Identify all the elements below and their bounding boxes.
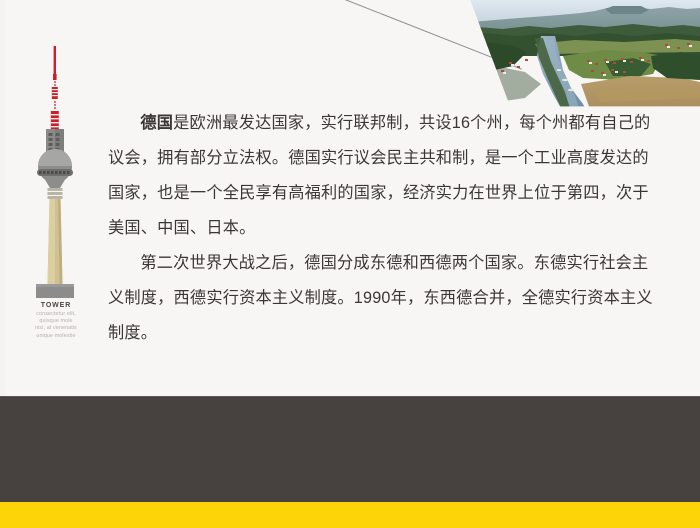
tv-tower-graphic (22, 44, 88, 300)
tower-caption-body: consectetur elit, quisque mole nisi, at … (10, 311, 102, 340)
left-edge-strip (0, 0, 5, 397)
article-paragraph-1: 德国是欧洲最发达国家，实行联邦制，共设16个州，每个州都有自己的议会，拥有部分立… (108, 106, 663, 246)
tower-caption-line-4: unique molestie (10, 333, 102, 340)
tower-caption-line-3: nisi, at venenatis (10, 325, 102, 332)
footer-dark-bar (0, 397, 700, 502)
footer-accent-bar (0, 502, 700, 528)
article-paragraph-2: 第二次世界大战之后，德国分成东德和西德两个国家。东德实行社会主义制度，西德实行资… (108, 246, 663, 351)
article-lead-term: 德国 (140, 114, 173, 132)
tower-caption-line-2: quisque mole (10, 318, 102, 325)
article-paragraph-1-text: 是欧洲最发达国家，实行联邦制，共设16个州，每个州都有自己的议会，拥有部分立法权… (108, 114, 650, 237)
slide-canvas: TOWER consectetur elit, quisque mole nis… (0, 0, 700, 528)
article-body: 德国是欧洲最发达国家，实行联邦制，共设16个州，每个州都有自己的议会，拥有部分立… (108, 106, 663, 351)
tower-caption: TOWER consectetur elit, quisque mole nis… (10, 302, 102, 340)
tower-caption-line-1: consectetur elit, (10, 311, 102, 318)
tower-caption-title: TOWER (10, 302, 102, 309)
tv-tower-illustration (22, 44, 88, 300)
